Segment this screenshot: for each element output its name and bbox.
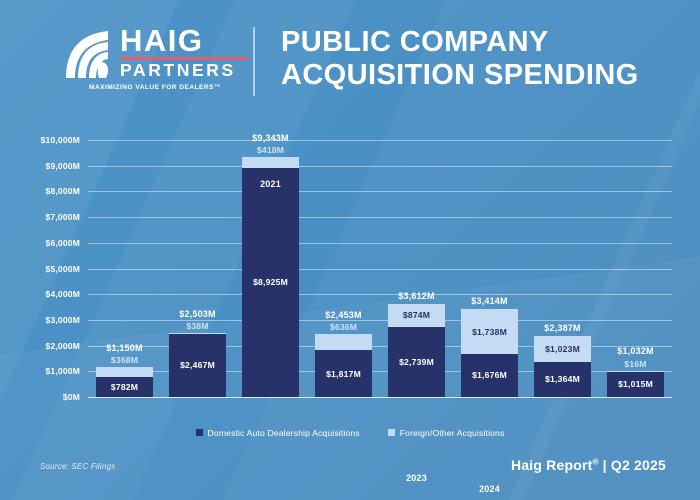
bar-segment-foreign[interactable] [96,367,153,376]
legend-swatch-icon [196,429,203,436]
bar-value-label-domestic: $2,467M [169,360,226,370]
bar-group[interactable]: $1,817M$636M$2,453M2022 [315,334,372,397]
haig-partners-logo: HAIG PARTNERS MAXIMIZING VALUE FOR DEALE… [62,26,242,94]
bar-group[interactable]: $1,364M$1,023M$2,387MYTD Q2 '24 [534,336,591,397]
bar-total-label: $3,414M [453,296,526,306]
logo-wordmark: HAIG PARTNERS [120,26,248,80]
bar-total-label: $2,453M [307,310,380,320]
page-title-line2: ACQUISITION SPENDING [281,59,681,92]
page-title: PUBLIC COMPANY ACQUISITION SPENDING [281,26,681,92]
gridline [88,166,672,167]
bar-segment-foreign[interactable] [242,157,299,168]
legend-label: Domestic Auto Dealership Acquisitions [208,428,360,438]
y-axis-tick-label: $6,000M [12,238,80,248]
bar-group[interactable]: $782M$368M$1,150M2015–2019Avg. [96,367,153,397]
header: HAIG PARTNERS MAXIMIZING VALUE FOR DEALE… [0,0,700,112]
y-axis-tick-label: $2,000M [12,341,80,351]
bar-value-label-foreign: $38M [169,321,226,331]
report-label: Haig Report® | Q2 2025 [511,457,666,473]
bar-group[interactable]: $8,925M$418M$9,343M2021 [242,157,299,397]
legend-item[interactable]: Foreign/Other Acquisitions [388,424,505,442]
bar-total-label: $1,032M [599,346,672,356]
x-axis-label-wrap: 2021 [232,179,309,190]
y-axis-tick-label: $5,000M [12,264,80,274]
header-divider [253,27,255,96]
bar-total-label: $3,612M [380,291,453,301]
legend-swatch-icon [388,429,395,436]
y-axis-tick-label: $0M [12,392,80,402]
y-axis-tick-label: $8,000M [12,186,80,196]
infographic-root: HAIG PARTNERS MAXIMIZING VALUE FOR DEALE… [0,0,700,500]
bar-value-label-foreign: $1,023M [534,344,591,354]
bar-value-label-foreign: $636M [315,322,372,332]
gridline [88,397,672,398]
legend-label: Foreign/Other Acquisitions [400,428,505,438]
y-axis-tick-label: $3,000M [12,315,80,325]
y-axis-tick-label: $1,000M [12,366,80,376]
report-quarter: | Q2 2025 [599,457,666,473]
bar-value-label-foreign: $418M [242,145,299,155]
chart-legend: Domestic Auto Dealership AcquisitionsFor… [0,424,700,442]
legend-item[interactable]: Domestic Auto Dealership Acquisitions [196,424,360,442]
y-axis-tick-label: $10,000M [12,135,80,145]
bar-total-label: $9,343M [234,133,307,143]
gridline [88,269,672,270]
bar-segment-foreign[interactable] [315,334,372,350]
gridline [88,243,672,244]
bar-value-label-domestic: $1,817M [315,369,372,379]
bar-group[interactable]: $2,739M$874M$3,612M2023 [388,304,445,397]
logo-tagline: MAXIMIZING VALUE FOR DEALERS™ [62,84,248,91]
gridline [88,217,672,218]
footer: Source: SEC Filings Haig Report® | Q2 20… [0,448,700,500]
y-axis-tick-label: $9,000M [12,161,80,171]
y-axis-tick-label: $4,000M [12,289,80,299]
bar-value-label-domestic: $782M [96,382,153,392]
bar-group[interactable]: $1,015M$16M$1,032MYTD Q2 '25 [607,370,664,397]
x-axis-tick-label: 2021 [232,179,309,190]
bar-total-label: $2,503M [161,309,234,319]
bar-value-label-domestic: $1,364M [534,374,591,384]
chart-area: $10,000M$9,000M$8,000M$7,000M$6,000M$5,0… [0,112,700,447]
logo-brand-haig: HAIG [120,26,248,56]
bar-segment-foreign[interactable] [169,333,226,334]
logo-brand-partners: PARTNERS [120,61,248,80]
bar-value-label-domestic: $8,925M [242,277,299,287]
bar-total-label: $2,387M [526,323,599,333]
gridline [88,191,672,192]
page-title-line1: PUBLIC COMPANY [281,26,681,59]
bar-value-label-foreign: $1,738M [461,327,518,337]
plot-area: $10,000M$9,000M$8,000M$7,000M$6,000M$5,0… [88,140,672,397]
gridline [88,140,672,141]
source-note: Source: SEC Filings [40,462,115,471]
bar-value-label-domestic: $1,015M [607,379,664,389]
bar-value-label-domestic: $1,676M [461,370,518,380]
y-axis-tick-label: $7,000M [12,212,80,222]
bar-group[interactable]: $2,467M$38M$2,503M2020 [169,333,226,397]
haig-swoosh-icon [62,28,114,84]
bar-value-label-foreign: $874M [388,310,445,320]
bar-total-label: $1,150M [88,343,161,353]
bar-group[interactable]: $1,676M$1,738M$3,414M2024 [461,309,518,397]
bar-value-label-foreign: $368M [96,355,153,365]
bar-value-label-domestic: $2,739M [388,357,445,367]
report-name: Haig Report [511,457,593,473]
bar-value-label-foreign: $16M [607,359,664,369]
